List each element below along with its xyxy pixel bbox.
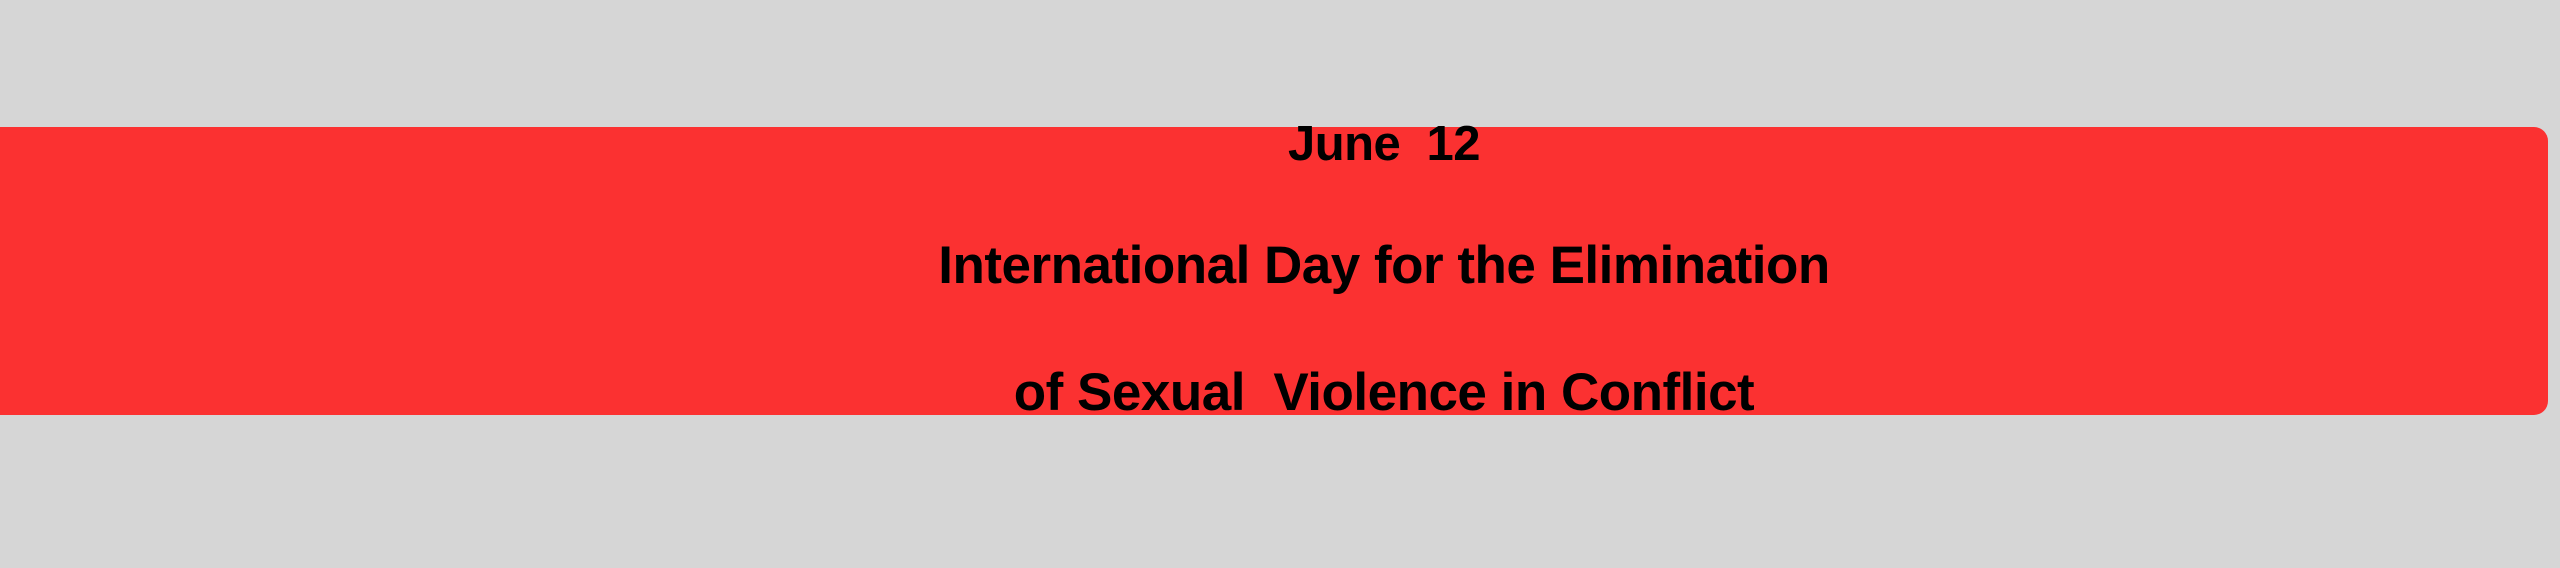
banner-title-line-1: International Day for the Elimination: [938, 229, 1829, 302]
banner-text-block: June 12 International Day for the Elimin…: [938, 59, 1829, 483]
banner-title-line-2: of Sexual Violence in Conflict: [938, 356, 1829, 429]
screenshot-canvas: June 12 International Day for the Elimin…: [0, 0, 2560, 568]
banner-date-line: June 12: [938, 113, 1829, 175]
observance-banner: June 12 International Day for the Elimin…: [0, 127, 2548, 415]
